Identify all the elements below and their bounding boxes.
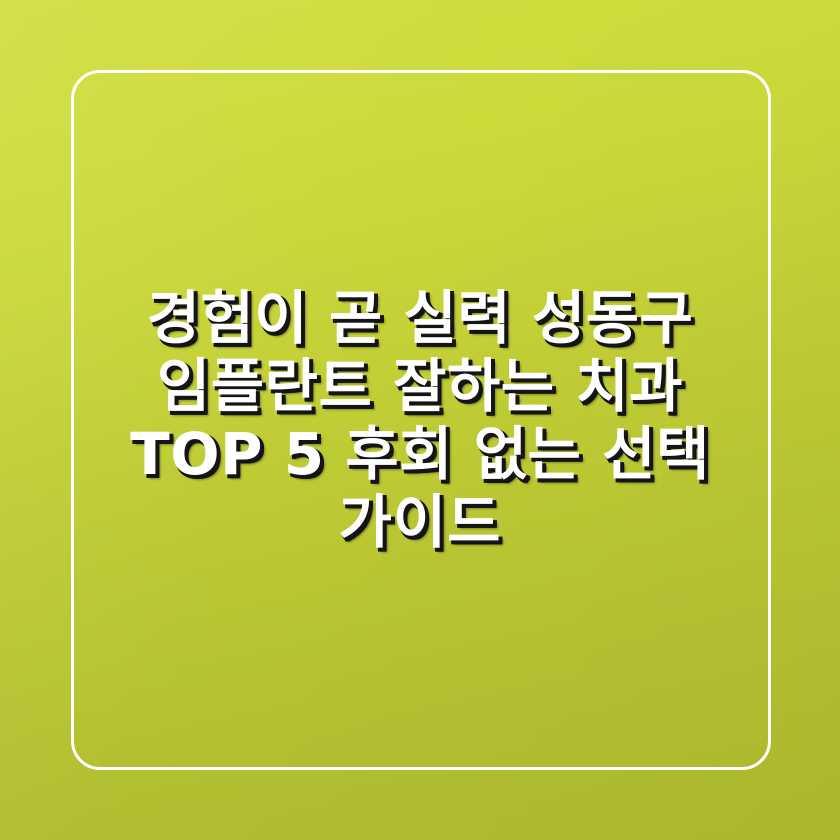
- headline-line-1: 경험이 곧 실력 성동구: [100, 284, 740, 352]
- headline-line-4: 가이드: [100, 488, 740, 556]
- thumbnail-card: 경험이 곧 실력 성동구 임플란트 잘하는 치과 TOP 5 후회 없는 선택 …: [0, 0, 840, 840]
- headline-line-3: TOP 5 후회 없는 선택: [100, 420, 740, 488]
- headline-line-2: 임플란트 잘하는 치과: [100, 352, 740, 420]
- headline-block: 경험이 곧 실력 성동구 임플란트 잘하는 치과 TOP 5 후회 없는 선택 …: [0, 0, 840, 840]
